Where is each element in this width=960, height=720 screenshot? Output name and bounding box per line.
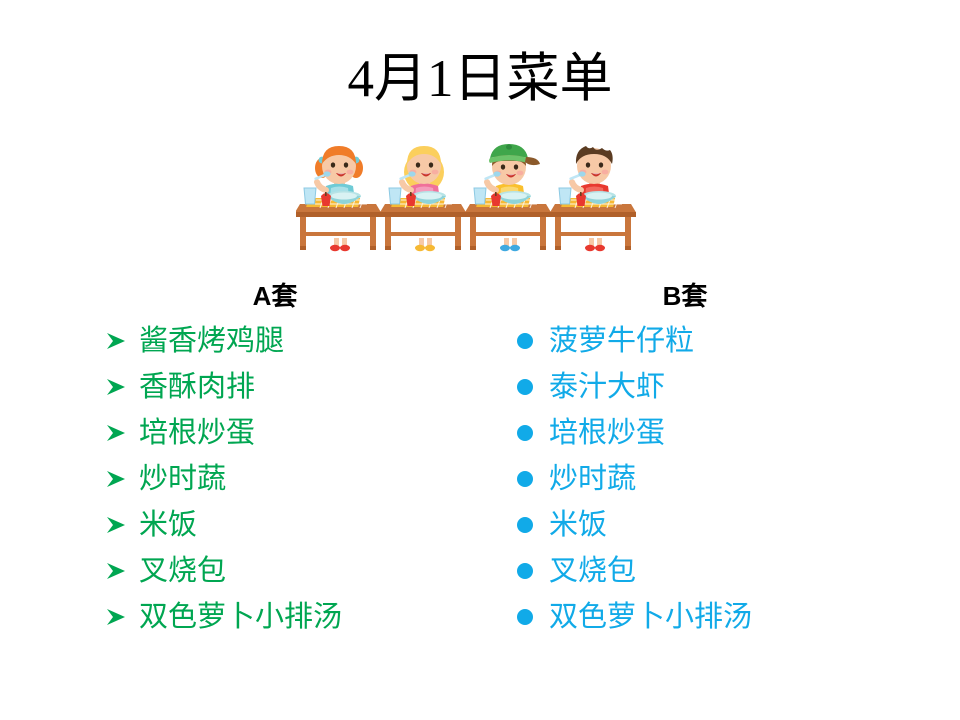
column-header-set-a: A套 — [125, 280, 425, 312]
list-item: 香酥肉排 — [105, 364, 515, 410]
list-item: 菠萝牛仔粒 — [515, 318, 925, 364]
menu-item-label: 米饭 — [549, 502, 607, 548]
list-item: 炒时蔬 — [515, 456, 925, 502]
menu-item-label: 香酥肉排 — [139, 364, 255, 410]
menu-item-label: 叉烧包 — [139, 548, 226, 594]
menu-item-label: 双色萝卜小排汤 — [139, 594, 342, 640]
arrow-bullet-icon — [105, 331, 139, 351]
arrow-bullet-icon — [105, 561, 139, 581]
menu-item-label: 菠萝牛仔粒 — [549, 318, 694, 364]
circle-bullet-icon — [515, 423, 549, 443]
menu-item-label: 酱香烤鸡腿 — [139, 318, 284, 364]
list-item: 叉烧包 — [515, 548, 925, 594]
menu-slide: 4月1日菜单 — [0, 0, 960, 720]
menu-item-label: 双色萝卜小排汤 — [549, 594, 752, 640]
page-title: 4月1日菜单 — [0, 48, 960, 110]
menu-item-label: 培根炒蛋 — [549, 410, 665, 456]
arrow-bullet-icon — [105, 423, 139, 443]
list-item: 酱香烤鸡腿 — [105, 318, 515, 364]
menu-list-set-a: 酱香烤鸡腿 香酥肉排 培根炒蛋 — [105, 318, 515, 640]
arrow-bullet-icon — [105, 377, 139, 397]
menu-item-label: 叉烧包 — [549, 548, 636, 594]
menu-item-label: 炒时蔬 — [549, 456, 636, 502]
menu-columns: A套 酱香烤鸡腿 香酥肉排 — [0, 280, 960, 680]
menu-column-set-a: A套 酱香烤鸡腿 香酥肉排 — [105, 280, 515, 640]
child-4 — [549, 146, 636, 251]
child-1 — [296, 146, 382, 251]
list-item: 培根炒蛋 — [105, 410, 515, 456]
circle-bullet-icon — [515, 515, 549, 535]
child-3 — [464, 144, 552, 251]
list-item: 叉烧包 — [105, 548, 515, 594]
menu-item-label: 米饭 — [139, 502, 197, 548]
menu-column-set-b: B套 菠萝牛仔粒 泰汁大虾 — [515, 280, 925, 640]
circle-bullet-icon — [515, 561, 549, 581]
kids-illustration-svg — [296, 142, 636, 264]
circle-bullet-icon — [515, 377, 549, 397]
list-item: 米饭 — [105, 502, 515, 548]
menu-item-label: 炒时蔬 — [139, 456, 226, 502]
arrow-bullet-icon — [105, 469, 139, 489]
list-item: 双色萝卜小排汤 — [105, 594, 515, 640]
kids-eating-illustration — [296, 142, 636, 264]
list-item: 炒时蔬 — [105, 456, 515, 502]
list-item: 米饭 — [515, 502, 925, 548]
menu-item-label: 培根炒蛋 — [139, 410, 255, 456]
menu-list-set-b: 菠萝牛仔粒 泰汁大虾 培根炒蛋 — [515, 318, 925, 640]
list-item: 双色萝卜小排汤 — [515, 594, 925, 640]
child-2 — [379, 146, 467, 251]
circle-bullet-icon — [515, 607, 549, 627]
arrow-bullet-icon — [105, 607, 139, 627]
circle-bullet-icon — [515, 469, 549, 489]
column-header-set-b: B套 — [535, 280, 835, 312]
menu-item-label: 泰汁大虾 — [549, 364, 665, 410]
circle-bullet-icon — [515, 331, 549, 351]
list-item: 培根炒蛋 — [515, 410, 925, 456]
arrow-bullet-icon — [105, 515, 139, 535]
list-item: 泰汁大虾 — [515, 364, 925, 410]
